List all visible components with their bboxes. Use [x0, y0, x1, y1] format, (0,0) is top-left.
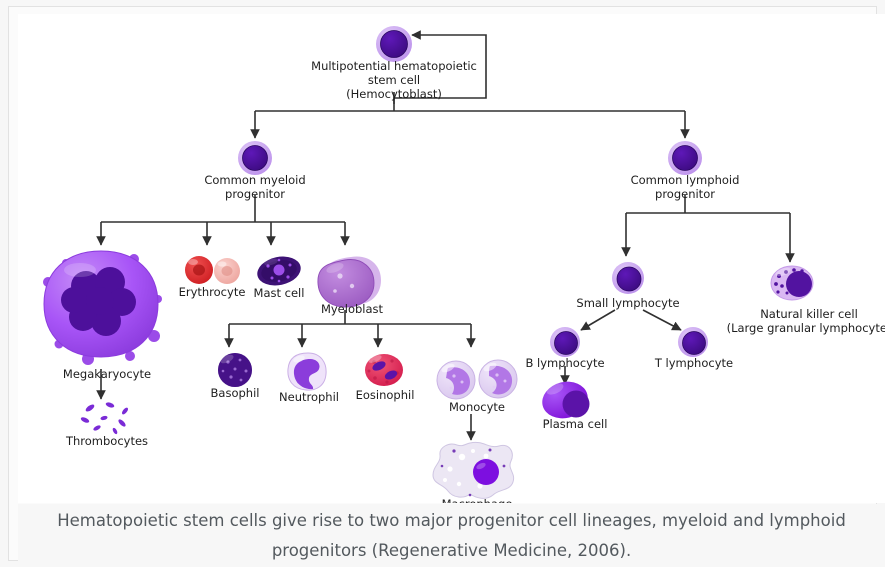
label-t-lymphocyte: T lymphocyte [654, 356, 733, 370]
cell-common-lymphoid-progenitor[interactable] [668, 141, 702, 175]
cell-myeloblast[interactable] [318, 257, 381, 308]
cell-neutrophil[interactable] [288, 353, 326, 390]
cell-monocyte[interactable] [437, 360, 517, 399]
label-myeloblast: Myeloblast [321, 302, 384, 316]
label-hsc-line2: stem cell [368, 73, 420, 87]
label-cmp-line1: Common myeloid [204, 173, 305, 187]
cell-b-lymphocyte[interactable] [550, 327, 580, 357]
figure-card: Multipotential hematopoietic stem cell (… [8, 6, 877, 561]
label-nk-cell-line1: Natural killer cell [760, 307, 858, 321]
cell-hsc[interactable] [376, 26, 412, 62]
label-plasma-cell: Plasma cell [543, 417, 608, 431]
cell-common-myeloid-progenitor[interactable] [238, 141, 272, 175]
label-neutrophil: Neutrophil [279, 390, 339, 404]
label-monocyte: Monocyte [449, 400, 505, 414]
label-megakaryocyte: Megakaryocyte [63, 367, 151, 381]
label-eosinophil: Eosinophil [356, 388, 415, 402]
figure-caption: Hematopoietic stem cells give rise to tw… [18, 504, 885, 567]
label-hsc-line1: Multipotential hematopoietic [311, 59, 477, 73]
label-erythrocyte: Erythrocyte [179, 285, 246, 299]
figure-page: Multipotential hematopoietic stem cell (… [0, 0, 885, 567]
label-hsc-line3: (Hemocytoblast) [346, 87, 442, 101]
hematopoiesis-diagram: Multipotential hematopoietic stem cell (… [18, 14, 885, 503]
label-b-lymphocyte: B lymphocyte [525, 356, 604, 370]
label-clp-line1: Common lymphoid [631, 173, 740, 187]
cell-t-lymphocyte[interactable] [678, 327, 708, 357]
cell-basophil[interactable] [218, 353, 252, 387]
cell-mast-cell[interactable] [255, 253, 304, 290]
cell-megakaryocyte[interactable] [43, 251, 162, 365]
cell-eosinophil[interactable] [365, 354, 403, 386]
label-mast-cell: Mast cell [254, 286, 305, 300]
cell-macrophage[interactable] [433, 442, 514, 498]
cell-natural-killer[interactable] [771, 266, 813, 300]
label-small-lymphocyte: Small lymphocyte [576, 296, 679, 310]
arrow-small-lymphocyte-to-b [581, 310, 615, 330]
label-clp-line2: progenitor [655, 187, 715, 201]
arrow-small-lymphocyte-to-t [643, 310, 681, 330]
label-basophil: Basophil [211, 386, 260, 400]
caption-text: Hematopoietic stem cells give rise to tw… [52, 506, 852, 566]
label-thrombocytes: Thrombocytes [65, 434, 148, 448]
lineage-tree-svg: Multipotential hematopoietic stem cell (… [18, 14, 885, 503]
label-cmp-line2: progenitor [225, 187, 285, 201]
cell-erythrocyte[interactable] [185, 256, 240, 284]
cell-thrombocytes[interactable] [80, 401, 129, 434]
cell-small-lymphocyte[interactable] [612, 262, 644, 294]
label-macrophage: Macrophage [442, 497, 513, 503]
label-nk-cell-line2: (Large granular lymphocyte) [727, 321, 885, 335]
